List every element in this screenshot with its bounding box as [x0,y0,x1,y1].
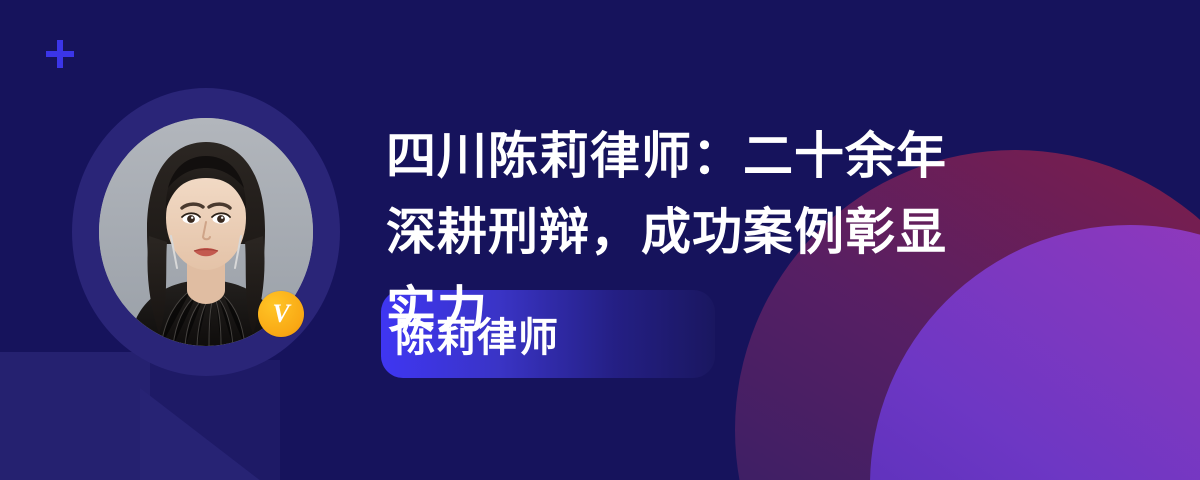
page-title: 四川陈莉律师：二十余年 深耕刑辩，成功案例彰显 [386,118,1086,270]
headline-line-3: 实力 [386,272,488,348]
verified-glyph: V [272,301,289,327]
decor-triangle-left [140,388,270,480]
headline-line-2: 深耕刑辩，成功案例彰显 [386,194,1086,270]
verified-v-icon: V [258,291,304,337]
headline-block: 四川陈莉律师：二十余年 深耕刑辩，成功案例彰显 [386,118,1086,270]
profile-banner: V 四川陈莉律师：二十余年 深耕刑辩，成功案例彰显 陈莉律师 实力 [0,0,1200,480]
headline-line-1: 四川陈莉律师：二十余年 [386,118,1086,194]
avatar[interactable]: V [72,88,340,378]
plus-icon [44,38,76,70]
